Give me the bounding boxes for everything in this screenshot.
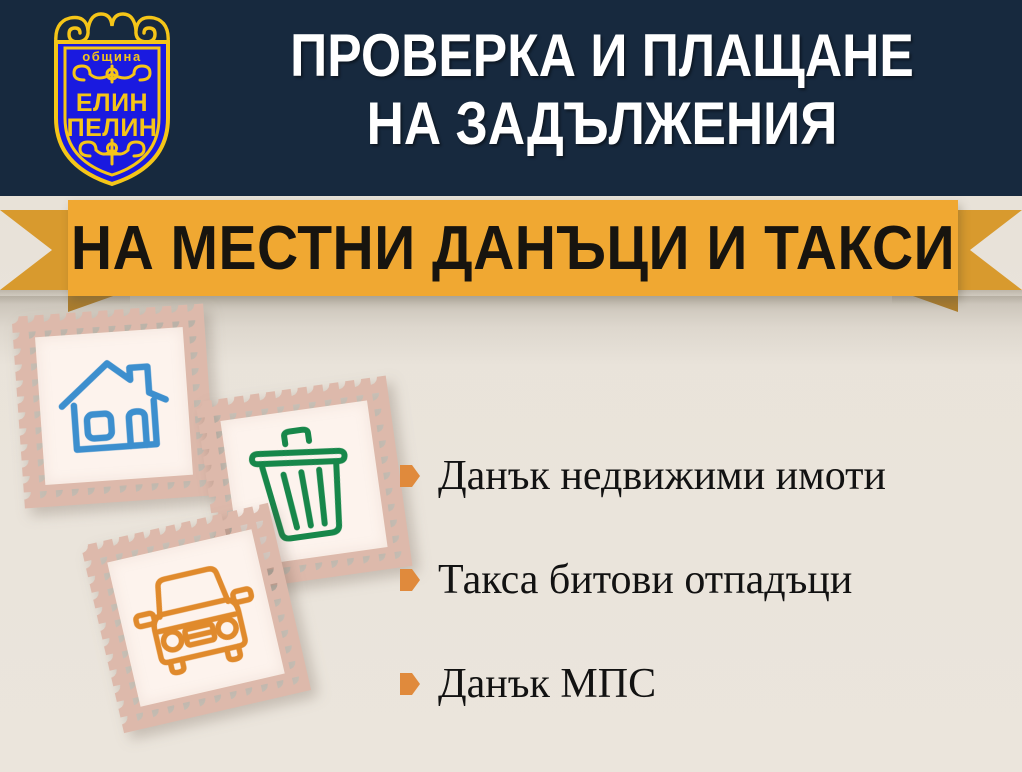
crest-name-line1: ЕЛИН <box>76 89 148 117</box>
bullet-arrow-icon <box>400 569 420 591</box>
bullet-arrow-icon <box>400 673 420 695</box>
house-icon <box>35 327 193 485</box>
crest-name-line2: ПЕЛИН <box>67 114 158 142</box>
list-item-label: Данък недвижими имоти <box>438 454 886 498</box>
bullet-arrow-icon <box>400 465 420 487</box>
crest-community-word: община <box>82 49 142 64</box>
municipality-crest-logo: община ЕЛИН ПЕЛИН <box>38 8 186 188</box>
list-item[interactable]: Данък недвижими имоти <box>400 424 1012 528</box>
header-banner: община ЕЛИН ПЕЛИН <box>0 0 1022 196</box>
page-title-line-1: ПРОВЕРКА И ПЛАЩАНЕ <box>248 22 957 90</box>
ribbon-label: НА МЕСТНИ ДАНЪЦИ И ТАКСИ <box>104 200 923 296</box>
page-title-line-2: НА ЗАДЪЛЖЕНИЯ <box>248 90 957 158</box>
subtitle-ribbon: НА МЕСТНИ ДАНЪЦИ И ТАКСИ <box>0 196 1022 304</box>
list-item[interactable]: Данък МПС <box>400 632 1012 736</box>
stamp-property-tax <box>12 304 217 509</box>
stamp-collage <box>0 300 420 772</box>
tax-types-list: Данък недвижими имоти Такса битови отпад… <box>400 424 1012 736</box>
list-item-label: Такса битови отпадъци <box>438 558 852 602</box>
page-title: ПРОВЕРКА И ПЛАЩАНЕ НА ЗАДЪЛЖЕНИЯ <box>248 22 957 159</box>
list-item-label: Данък МПС <box>438 662 656 706</box>
poster-root: община ЕЛИН ПЕЛИН <box>0 0 1022 772</box>
list-item[interactable]: Такса битови отпадъци <box>400 528 1012 632</box>
